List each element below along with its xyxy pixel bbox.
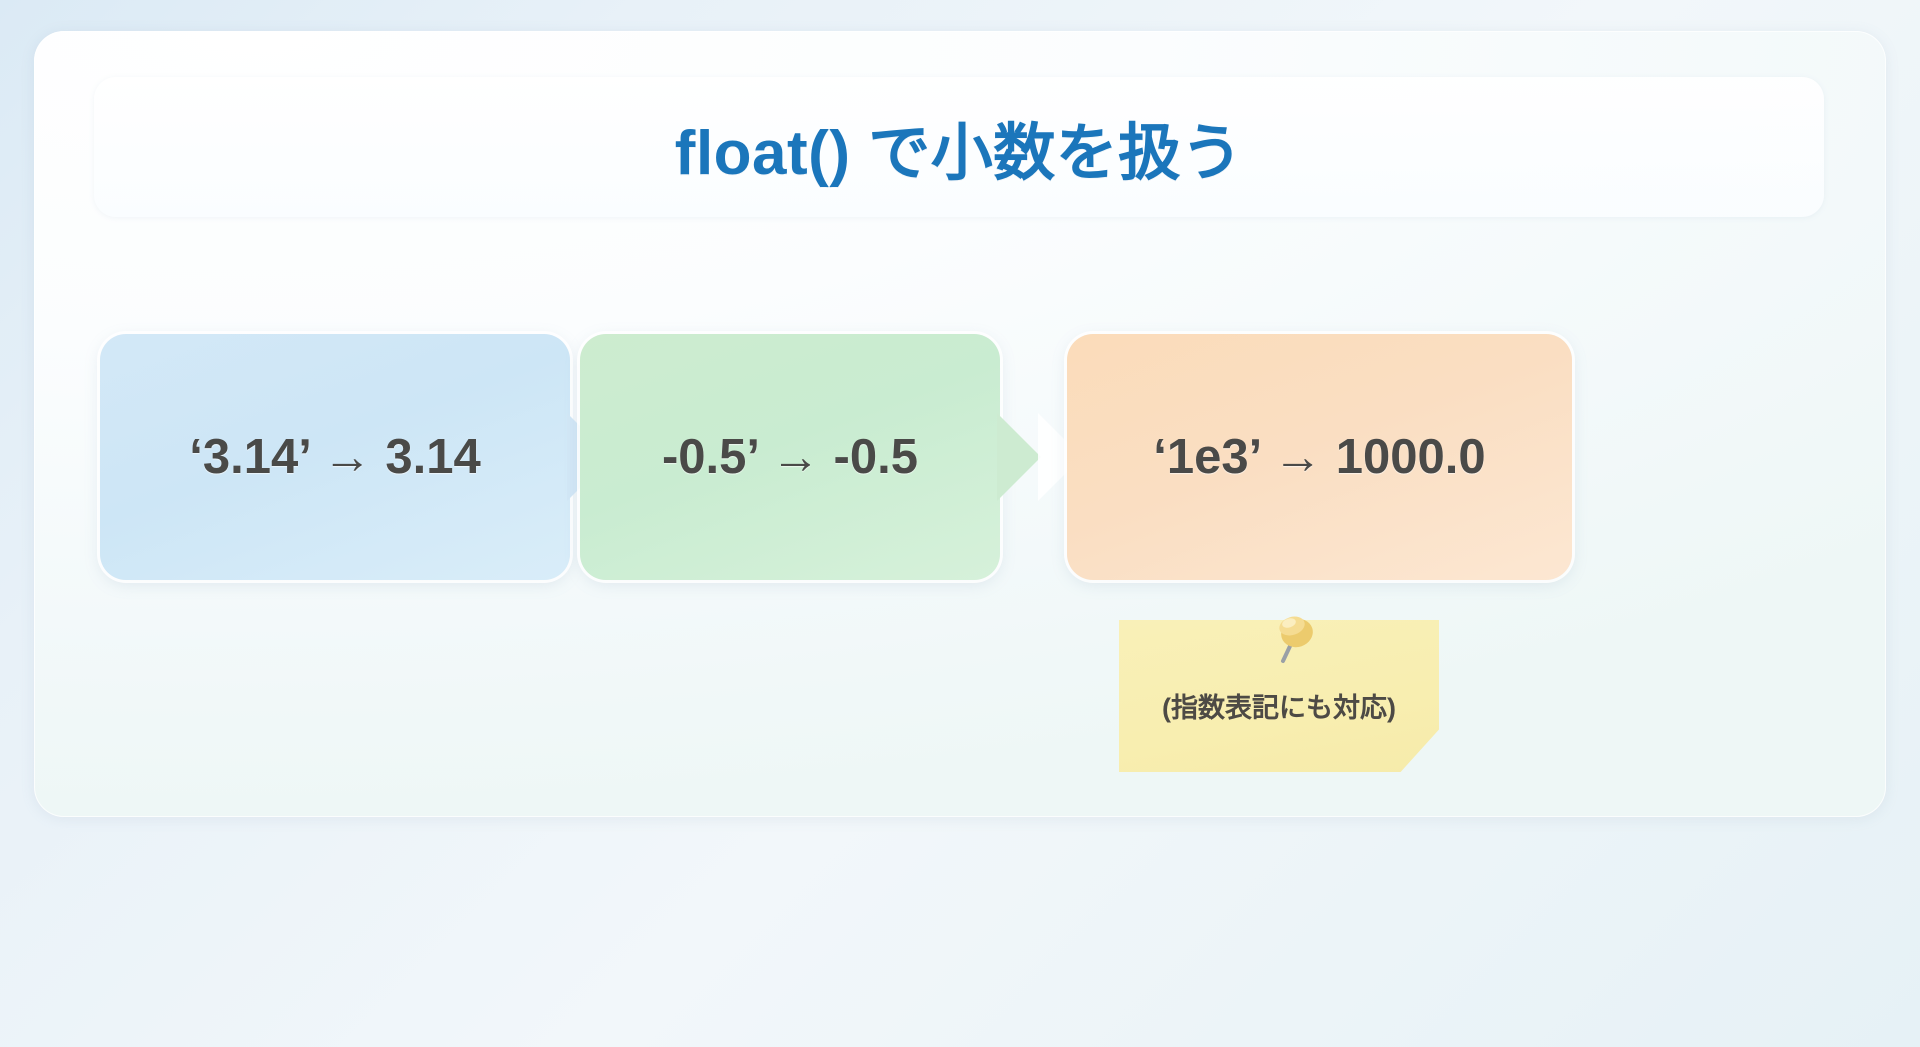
conversion-label: ‘1e3’ → 1000.0 <box>1153 429 1485 485</box>
conversion-bubble-orange[interactable]: ‘1e3’ → 1000.0 <box>1067 334 1572 580</box>
title-plate: float() で小数を扱う <box>94 77 1824 217</box>
sticky-note-text: (指数表記にも対応) <box>1162 686 1396 725</box>
conversion-bubble-green[interactable]: -0.5’ → -0.5 <box>580 334 1000 580</box>
slide-canvas: float() で小数を扱う ‘3.14’ → 3.14 -0.5’ → -0.… <box>34 31 1886 817</box>
arrow-tail-icon <box>997 413 1041 501</box>
conversion-label: -0.5’ → -0.5 <box>662 429 918 485</box>
conversion-bubble-blue[interactable]: ‘3.14’ → 3.14 <box>100 334 570 580</box>
page-title: float() で小数を扱う <box>675 102 1243 192</box>
bubble-row: ‘3.14’ → 3.14 -0.5’ → -0.5 ‘1e3’ → 1000.… <box>34 334 1886 584</box>
conversion-label: ‘3.14’ → 3.14 <box>189 429 481 485</box>
sticky-note[interactable]: (指数表記にも対応) <box>1119 620 1439 772</box>
